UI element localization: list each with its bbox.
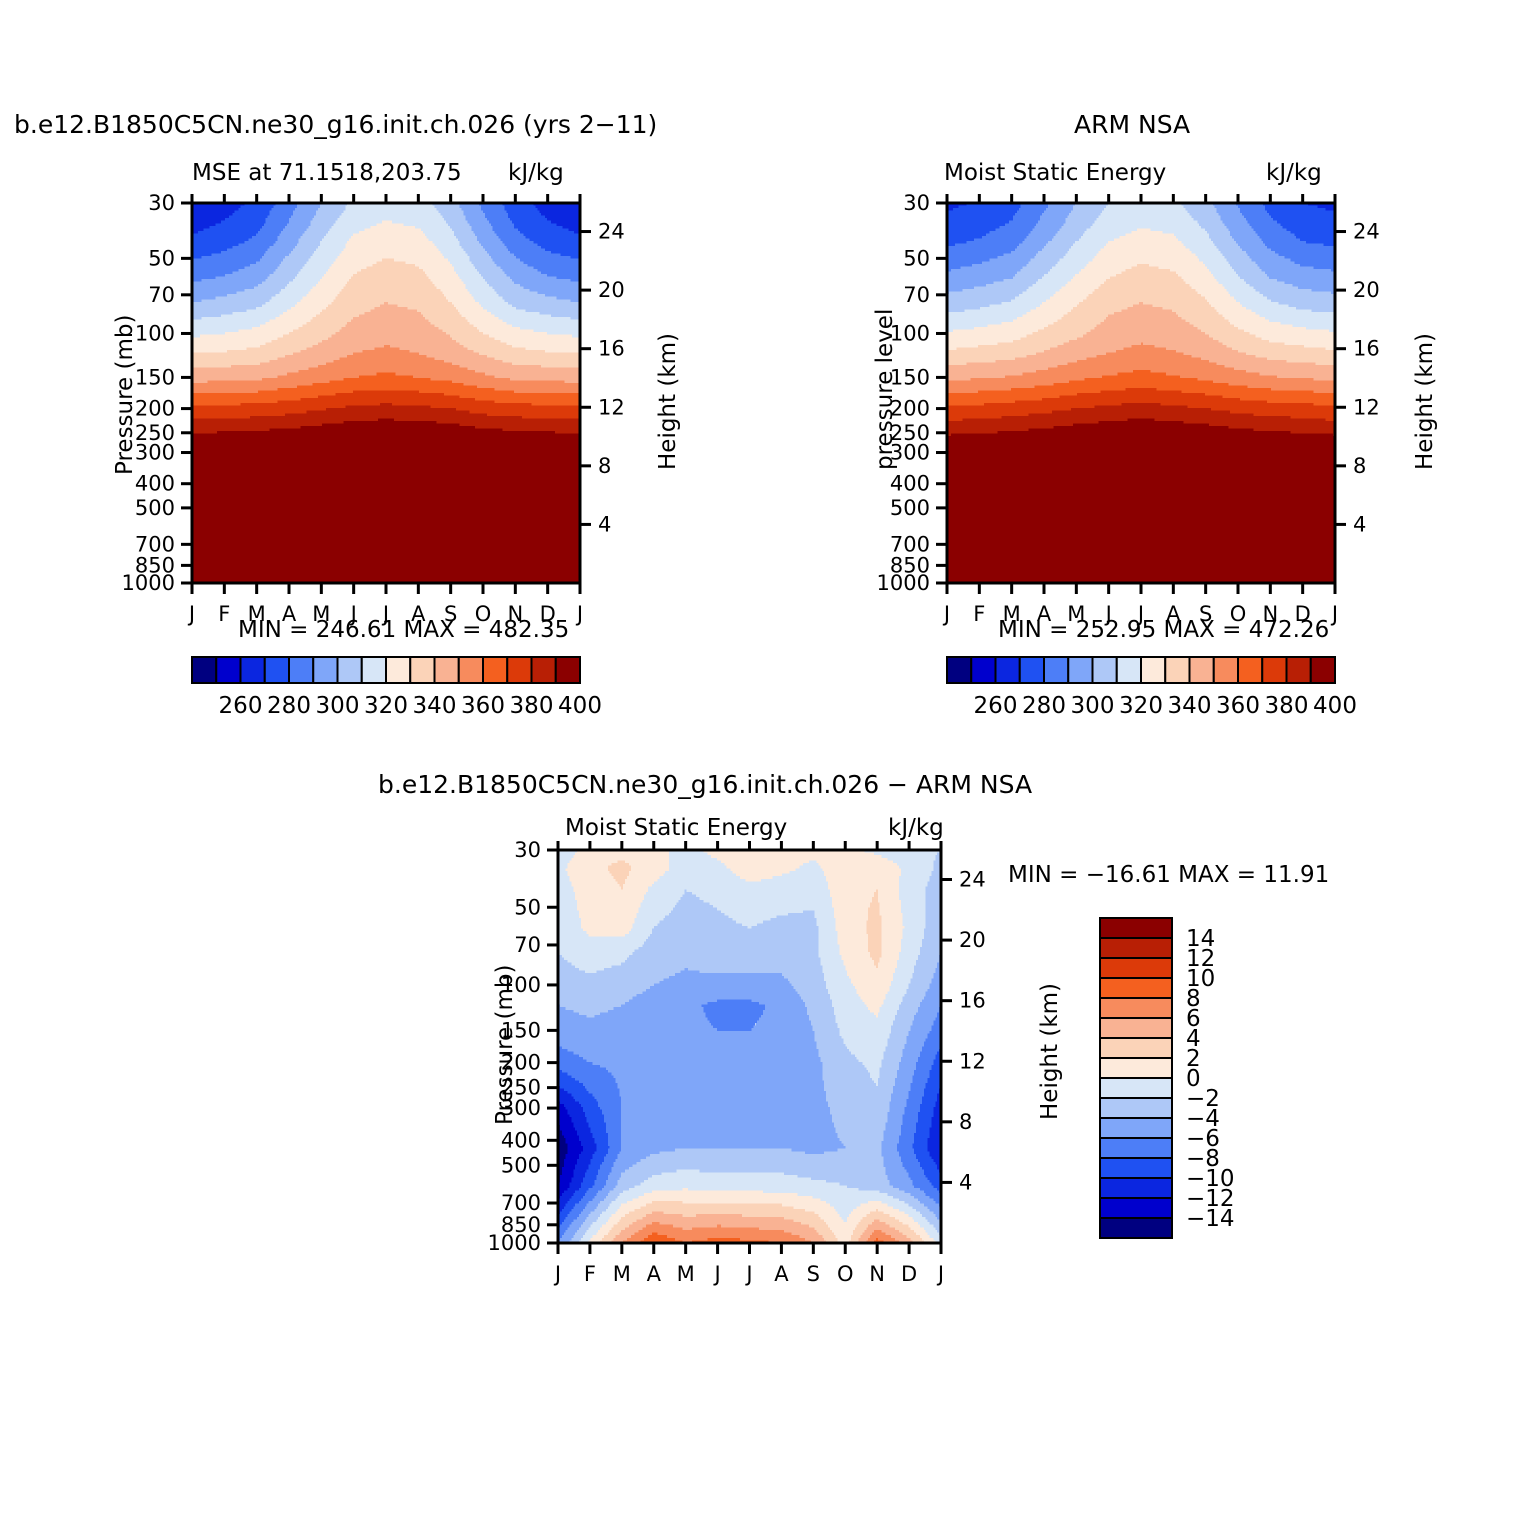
svg-text:1000: 1000 [488, 1231, 541, 1255]
svg-text:16: 16 [959, 989, 986, 1013]
svg-text:A: A [774, 1262, 789, 1286]
svg-text:24: 24 [959, 868, 986, 892]
svg-text:380: 380 [1265, 693, 1309, 719]
svg-text:30: 30 [514, 838, 541, 862]
panel-diff-minmax: MIN = −16.61 MAX = 11.91 [1008, 862, 1329, 888]
svg-text:M: M [677, 1262, 695, 1286]
panel-model-colorbar[interactable]: 260280300320340360380400 [0, 0, 760, 760]
svg-text:8: 8 [959, 1110, 972, 1134]
svg-text:J: J [744, 1262, 752, 1286]
svg-text:J: J [936, 1262, 944, 1286]
figure-canvas: b.e12.B1850C5CN.ne30_g16.init.ch.026 (yr… [0, 0, 1525, 1525]
svg-text:J: J [712, 1262, 720, 1286]
svg-text:20: 20 [959, 928, 986, 952]
svg-text:280: 280 [267, 693, 311, 719]
svg-text:400: 400 [1313, 693, 1357, 719]
svg-text:300: 300 [316, 693, 360, 719]
svg-text:360: 360 [1216, 693, 1260, 719]
svg-text:260: 260 [219, 693, 263, 719]
svg-text:A: A [647, 1262, 662, 1286]
svg-text:150: 150 [501, 1018, 541, 1042]
svg-text:300: 300 [1071, 693, 1115, 719]
svg-text:12: 12 [959, 1049, 986, 1073]
svg-text:F: F [584, 1262, 596, 1286]
svg-text:700: 700 [501, 1191, 541, 1215]
svg-text:200: 200 [501, 1051, 541, 1075]
svg-text:J: J [553, 1262, 561, 1286]
svg-text:300: 300 [501, 1096, 541, 1120]
panel-obs-colorbar[interactable]: 260280300320340360380400 [755, 0, 1525, 760]
svg-text:70: 70 [514, 933, 541, 957]
svg-text:4: 4 [959, 1170, 972, 1194]
svg-text:400: 400 [501, 1128, 541, 1152]
svg-text:320: 320 [1119, 693, 1163, 719]
svg-text:M: M [613, 1262, 631, 1286]
svg-text:100: 100 [501, 973, 541, 997]
svg-text:S: S [807, 1262, 820, 1286]
svg-text:50: 50 [514, 895, 541, 919]
panel-diff-plot[interactable]: 3050701001502002503004005007008501000481… [380, 650, 1040, 1290]
svg-text:N: N [869, 1262, 885, 1286]
svg-text:500: 500 [501, 1153, 541, 1177]
svg-text:O: O [837, 1262, 854, 1286]
svg-text:−14: −14 [1186, 1206, 1235, 1232]
svg-text:340: 340 [1168, 693, 1212, 719]
panel-diff-colorbar[interactable]: 14121086420−2−4−6−8−10−12−14 [1080, 900, 1340, 1250]
svg-text:D: D [901, 1262, 917, 1286]
panel-diff-ylabel-right: Height (km) [1037, 983, 1063, 1120]
